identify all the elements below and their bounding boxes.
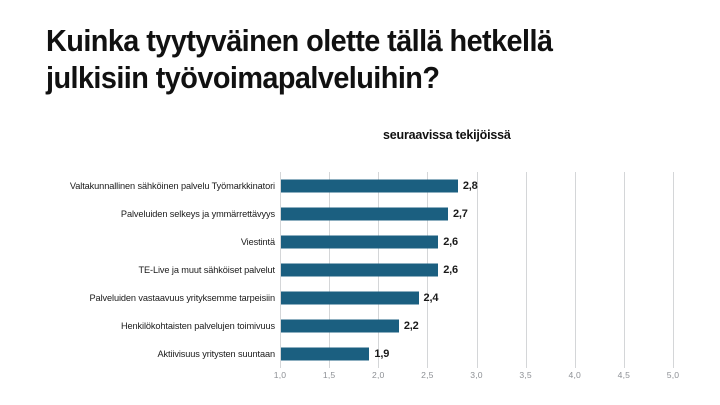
chart-row: Henkilökohtaisten palvelujen toimivuus2,…	[0, 312, 720, 340]
x-tick-4-0: 4,0	[568, 370, 581, 380]
bar-value-label: 2,4	[424, 292, 439, 304]
chart-row: Viestintä2,6	[0, 228, 720, 256]
bar-value-label: 2,2	[404, 320, 419, 332]
bar	[281, 180, 458, 193]
category-label: Valtakunnallinen sähköinen palvelu Työma…	[70, 181, 275, 191]
bar	[281, 292, 419, 305]
category-label: Viestintä	[241, 237, 275, 247]
bar-value-label: 2,6	[443, 236, 458, 248]
x-tick-2-0: 2,0	[372, 370, 385, 380]
bar-chart: Valtakunnallinen sähköinen palvelu Työma…	[0, 0, 720, 405]
category-label: Aktiivisuus yritysten suuntaan	[157, 349, 275, 359]
bar	[281, 320, 399, 333]
category-label: Henkilökohtaisten palvelujen toimivuus	[121, 321, 275, 331]
x-tick-3-5: 3,5	[519, 370, 532, 380]
x-axis-tick-labels: 1,01,52,02,53,03,54,04,55,0	[280, 370, 673, 386]
bar	[281, 264, 438, 277]
x-tick-4-5: 4,5	[618, 370, 631, 380]
bar	[281, 208, 448, 221]
chart-row: Valtakunnallinen sähköinen palvelu Työma…	[0, 172, 720, 200]
x-tick-2-5: 2,5	[421, 370, 434, 380]
x-tick-3-0: 3,0	[470, 370, 483, 380]
bar-value-label: 1,9	[374, 348, 389, 360]
chart-row: Aktiivisuus yritysten suuntaan1,9	[0, 340, 720, 368]
bar-value-label: 2,7	[453, 208, 468, 220]
chart-row: TE-Live ja muut sähköiset palvelut2,6	[0, 256, 720, 284]
bar	[281, 236, 438, 249]
category-label: Palveluiden selkeys ja ymmärrettävyys	[121, 209, 275, 219]
x-tick-1-5: 1,5	[323, 370, 336, 380]
x-tick-5-0: 5,0	[667, 370, 680, 380]
bar-value-label: 2,6	[443, 264, 458, 276]
chart-row: Palveluiden selkeys ja ymmärrettävyys2,7	[0, 200, 720, 228]
bar-value-label: 2,8	[463, 180, 478, 192]
chart-bar-rows: Valtakunnallinen sähköinen palvelu Työma…	[0, 172, 720, 368]
chart-row: Palveluiden vastaavuus yrityksemme tarpe…	[0, 284, 720, 312]
category-label: Palveluiden vastaavuus yrityksemme tarpe…	[90, 293, 275, 303]
bar	[281, 348, 369, 361]
x-tick-1-0: 1,0	[274, 370, 287, 380]
category-label: TE-Live ja muut sähköiset palvelut	[138, 265, 275, 275]
